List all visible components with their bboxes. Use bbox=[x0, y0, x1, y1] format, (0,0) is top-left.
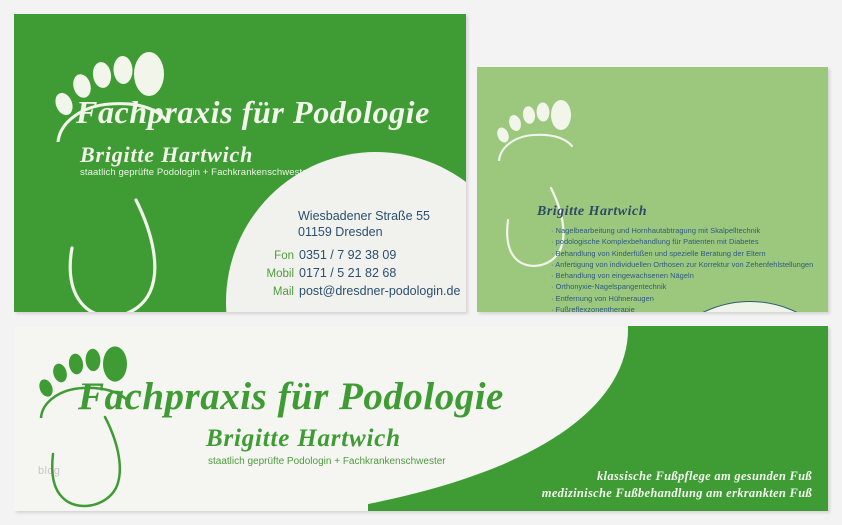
services-card[interactable]: Brigitte Hartwich Nagelbearbeitung und H… bbox=[477, 67, 828, 312]
banner-practitioner-name: Brigitte Hartwich bbox=[206, 425, 401, 453]
list-item: Entfernung von Hühneraugen bbox=[551, 293, 823, 304]
contact-rows: Fon 0351 / 7 92 38 09 Mobil 0171 / 5 21 … bbox=[252, 247, 466, 301]
list-item: Nagelbearbeitung und Hornhautabtragung m… bbox=[551, 225, 823, 236]
contact-row-phone[interactable]: Fon 0351 / 7 92 38 09 bbox=[252, 247, 466, 265]
wide-banner[interactable]: blog Fachpraxis für Podologie Brigitte H… bbox=[14, 326, 828, 511]
contact-label-phone: Fon bbox=[252, 248, 299, 265]
address-line-1: Wiesbadener Straße 55 bbox=[298, 208, 466, 224]
contact-label-mobile: Mobil bbox=[252, 266, 299, 283]
business-card[interactable]: Fachpraxis für Podologie Brigitte Hartwi… bbox=[14, 14, 466, 312]
banner-credential: staatlich geprüfte Podologin + Fachkrank… bbox=[208, 456, 446, 467]
foot-sole-curve-icon bbox=[58, 196, 170, 312]
foot-sole-curve-icon bbox=[42, 414, 132, 511]
practitioner-name: Brigitte Hartwich bbox=[80, 142, 253, 168]
list-item: Anfertigung von individuellen Orthosen z… bbox=[551, 259, 823, 270]
contact-value-mobile[interactable]: 0171 / 5 21 82 68 bbox=[299, 265, 396, 282]
contact-block: Wiesbadener Straße 55 01159 Dresden Fon … bbox=[252, 208, 466, 301]
contact-value-mail[interactable]: post@dresdner-podologin.de bbox=[299, 283, 460, 300]
list-item: Orthonyxie-Nagelspangentechnik bbox=[551, 281, 823, 292]
address-line-2: 01159 Dresden bbox=[298, 224, 466, 240]
contact-row-mail[interactable]: Mail post@dresdner-podologin.de bbox=[252, 283, 466, 301]
page-canvas: Fachpraxis für Podologie Brigitte Hartwi… bbox=[0, 0, 842, 525]
service-list: Nagelbearbeitung und Hornhautabtragung m… bbox=[551, 225, 823, 312]
blog-watermark: blog bbox=[38, 465, 60, 477]
banner-title: Fachpraxis für Podologie bbox=[78, 374, 504, 419]
practitioner-name: Brigitte Hartwich bbox=[537, 204, 647, 220]
practitioner-credential: staatlich geprüfte Podologin + Fachkrank… bbox=[80, 167, 311, 178]
list-item: podologische Komplexbehandlung für Patie… bbox=[551, 236, 823, 247]
page-title: Fachpraxis für Podologie bbox=[76, 94, 430, 131]
contact-label-mail: Mail bbox=[252, 284, 299, 301]
foot-toes-logo-icon bbox=[495, 93, 581, 161]
contact-value-phone[interactable]: 0351 / 7 92 38 09 bbox=[299, 247, 396, 264]
banner-tagline-2: medizinische Fußbehandlung am erkrankten… bbox=[542, 486, 812, 501]
list-item: Behandlung von Kinderfüßen und spezielle… bbox=[551, 248, 823, 259]
contact-row-mobile[interactable]: Mobil 0171 / 5 21 82 68 bbox=[252, 265, 466, 283]
banner-tagline-1: klassische Fußpflege am gesunden Fuß bbox=[597, 469, 812, 484]
list-item: Behandlung von eingewachsenen Nägeln bbox=[551, 270, 823, 281]
